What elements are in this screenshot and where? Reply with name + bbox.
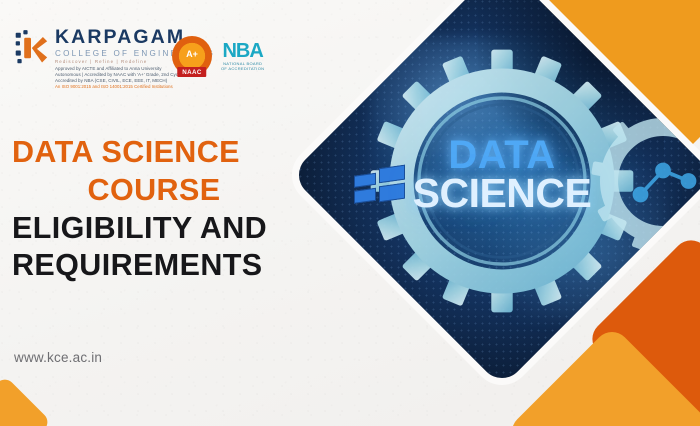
tile-title-data: DATA [382,136,622,174]
website-url[interactable]: www.kce.ac.in [14,350,102,365]
corner-wedge-shape [0,375,52,426]
tile-title-science: SCIENCE [382,175,622,214]
accreditation-badges: A+ NAAC NBA NATIONAL BOARD OF ACCREDITAT… [172,36,264,76]
promotional-banner: DATA SCIENCE KARPAGAM COLLEGE OF ENGINEE… [0,0,700,426]
headline-line-4: REQUIREMENTS [12,247,312,285]
headline-line-3: ELIGIBILITY AND [12,210,312,248]
page-title: DATA SCIENCE COURSE ELIGIBILITY AND REQU… [12,134,312,285]
naac-ribbon-label: NAAC [177,67,206,77]
tile-headline: DATA SCIENCE [382,136,622,214]
karpagam-monogram-icon [14,30,48,66]
nba-mark-label: NBA [222,41,262,61]
nba-subtitle-line2: OF ACCREDITATION [221,67,264,71]
iso-certification-line: An ISO 9001:2015 and ISO 14001:2015 Cert… [55,85,215,90]
headline-line-2: COURSE [12,172,312,210]
tile-content: DATA SCIENCE [352,25,652,325]
nba-badge: NBA NATIONAL BOARD OF ACCREDITATION [221,41,264,71]
headline-line-1: DATA SCIENCE [12,134,312,172]
naac-badge: A+ NAAC [172,36,212,76]
accreditation-line: Accredited by NBA (CSE, CIVIL, ECE, EEE,… [55,79,215,84]
naac-grade-label: A+ [186,49,198,59]
network-nodes-icon [635,164,695,200]
